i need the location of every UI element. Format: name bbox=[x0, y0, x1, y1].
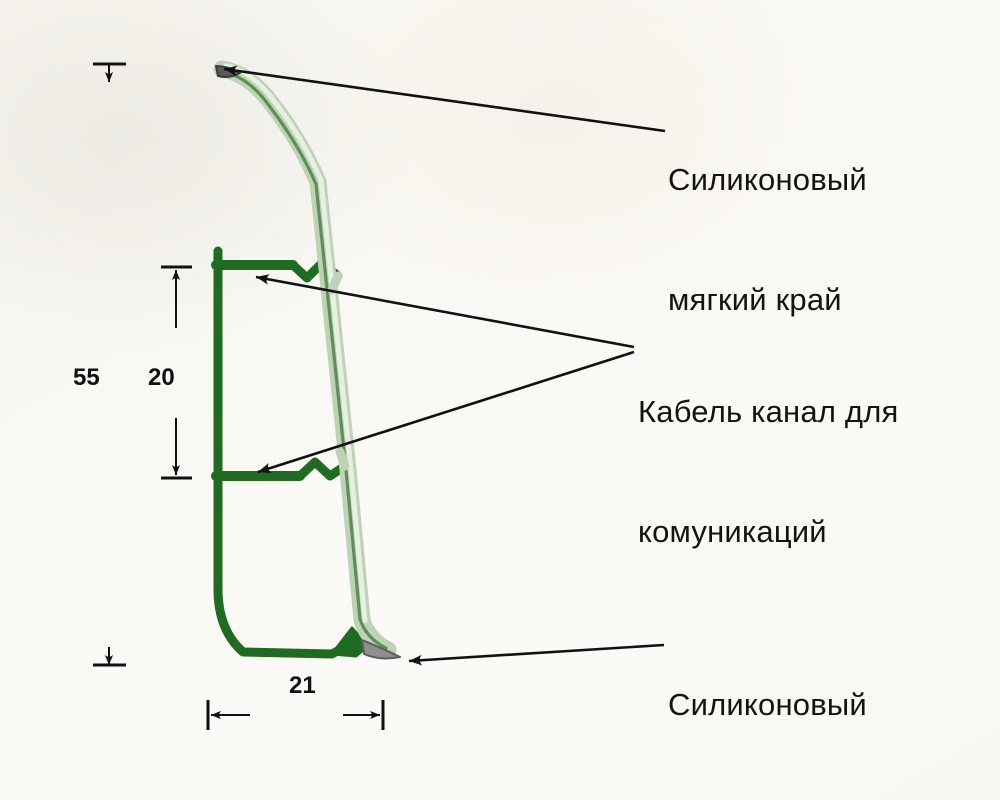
dimension-value-height-total: 55 bbox=[73, 364, 100, 392]
dimension-value-depth: 21 bbox=[289, 672, 316, 700]
lower-snap-clip bbox=[300, 462, 345, 476]
front-panel-band bbox=[222, 69, 388, 650]
diagram-canvas: Силиконовый мягкий край Кабель канал для… bbox=[0, 0, 1000, 800]
label-bottom-silicone-edge: Силиконовый мягкий край bbox=[668, 604, 867, 800]
label-top-silicone-edge-line1: Силиконовый bbox=[668, 160, 867, 200]
label-cable-channel-line1: Кабель канал для bbox=[638, 392, 898, 432]
label-cable-channel-line2: комуникаций bbox=[638, 512, 898, 552]
leader-cable-lower bbox=[258, 352, 634, 472]
leader-cable-upper bbox=[256, 277, 634, 347]
front-rail-lower-pocket bbox=[340, 452, 345, 466]
front-rail-upper-pocket bbox=[332, 276, 338, 290]
label-bottom-silicone-edge-line1: Силиконовый bbox=[668, 685, 867, 725]
dimension-value-channel-height: 20 bbox=[148, 364, 175, 392]
leader-bottom-edge bbox=[409, 645, 664, 661]
front-panel-silicone-strip bbox=[216, 66, 400, 658]
label-cable-channel: Кабель канал для комуникаций bbox=[638, 311, 898, 633]
leader-lines bbox=[224, 69, 665, 661]
